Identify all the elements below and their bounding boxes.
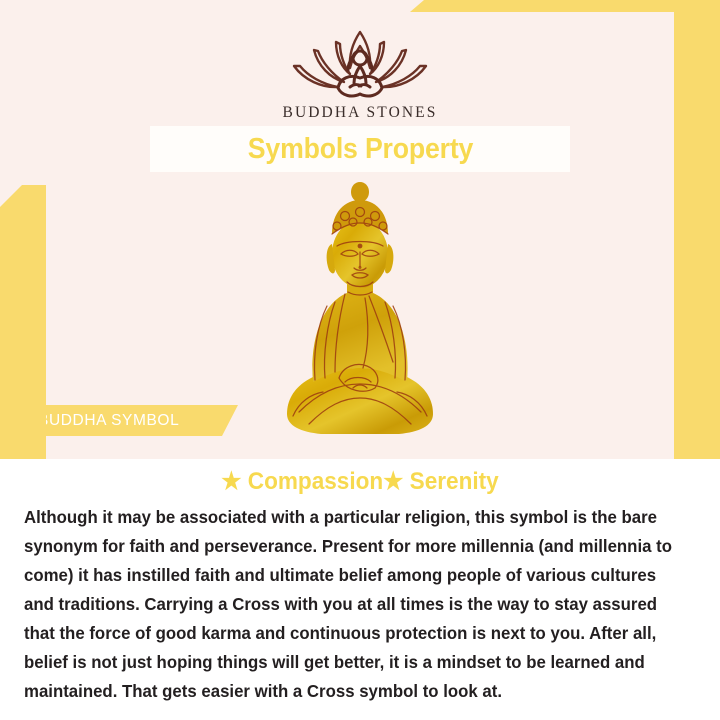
page-title: Symbols Property [247, 133, 472, 166]
poster-root: BUDDHA STONES Symbols Property [0, 0, 720, 720]
content-section: ★ Compassion★ Serenity Although it may b… [0, 459, 720, 720]
title-banner: Symbols Property [150, 126, 570, 172]
top-accent-bar [410, 0, 720, 12]
buddha-symbol-ribbon: BUDDHA SYMBOL [16, 405, 238, 436]
brand-wordmark: BUDDHA STONES [283, 104, 438, 122]
content-subheading: ★ Compassion★ Serenity [22, 467, 699, 496]
content-body-text: Although it may be associated with a par… [24, 503, 681, 706]
right-accent-bar [674, 0, 720, 528]
brand-logo-block: BUDDHA STONES [0, 26, 720, 122]
lotus-meditation-figure-icon [278, 26, 442, 98]
buddha-statue-image [0, 176, 720, 444]
seated-golden-buddha-statue [269, 176, 451, 444]
